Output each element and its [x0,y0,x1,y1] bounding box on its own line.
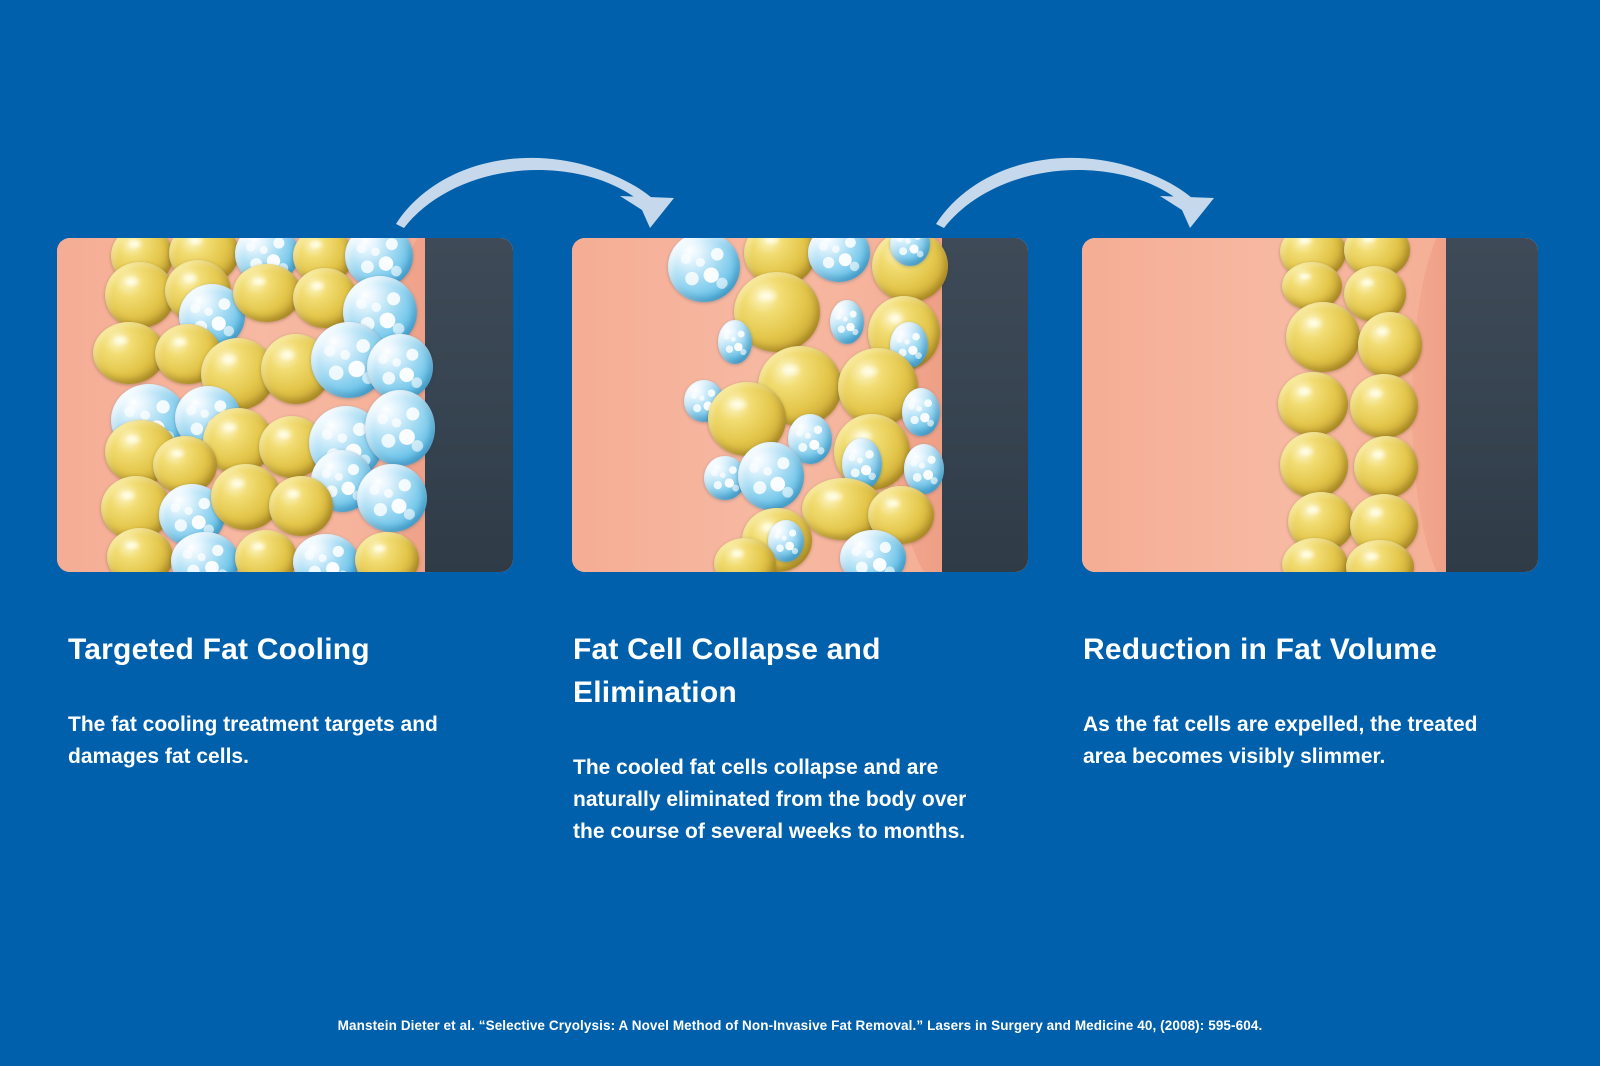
step-1-heading: Targeted Fat Cooling [68,628,498,671]
step-3-heading: Reduction in Fat Volume [1083,628,1513,671]
fat-cell-field [572,238,948,572]
step-2-body: The cooled fat cells collapse and are na… [573,752,1003,848]
cooling-applicator [425,238,513,572]
step-2-text-column: Fat Cell Collapse and Elimination The co… [573,628,1003,848]
step-3-text-column: Reduction in Fat Volume As the fat cells… [1083,628,1513,773]
step-1-body: The fat cooling treatment targets and da… [68,709,498,773]
process-arrow-2 [932,136,1222,231]
reduction-in-fat-volume-illustration [1082,238,1538,572]
step-2-heading: Fat Cell Collapse and Elimination [573,628,1003,714]
cooling-applicator [942,238,1028,572]
targeted-fat-cooling-illustration [57,238,513,572]
fat-cell-collapse-illustration [572,238,1028,572]
source-citation: Manstein Dieter et al. “Selective Cryoly… [0,1018,1600,1033]
cooling-applicator [1446,238,1538,572]
infographic-stage: Targeted Fat Cooling The fat cooling tre… [0,0,1600,1066]
step-1-text-column: Targeted Fat Cooling The fat cooling tre… [68,628,498,773]
fat-cell-field [1082,238,1452,572]
step-3-body: As the fat cells are expelled, the treat… [1083,709,1513,773]
fat-cell-field [57,238,435,572]
process-arrow-1 [392,136,682,231]
